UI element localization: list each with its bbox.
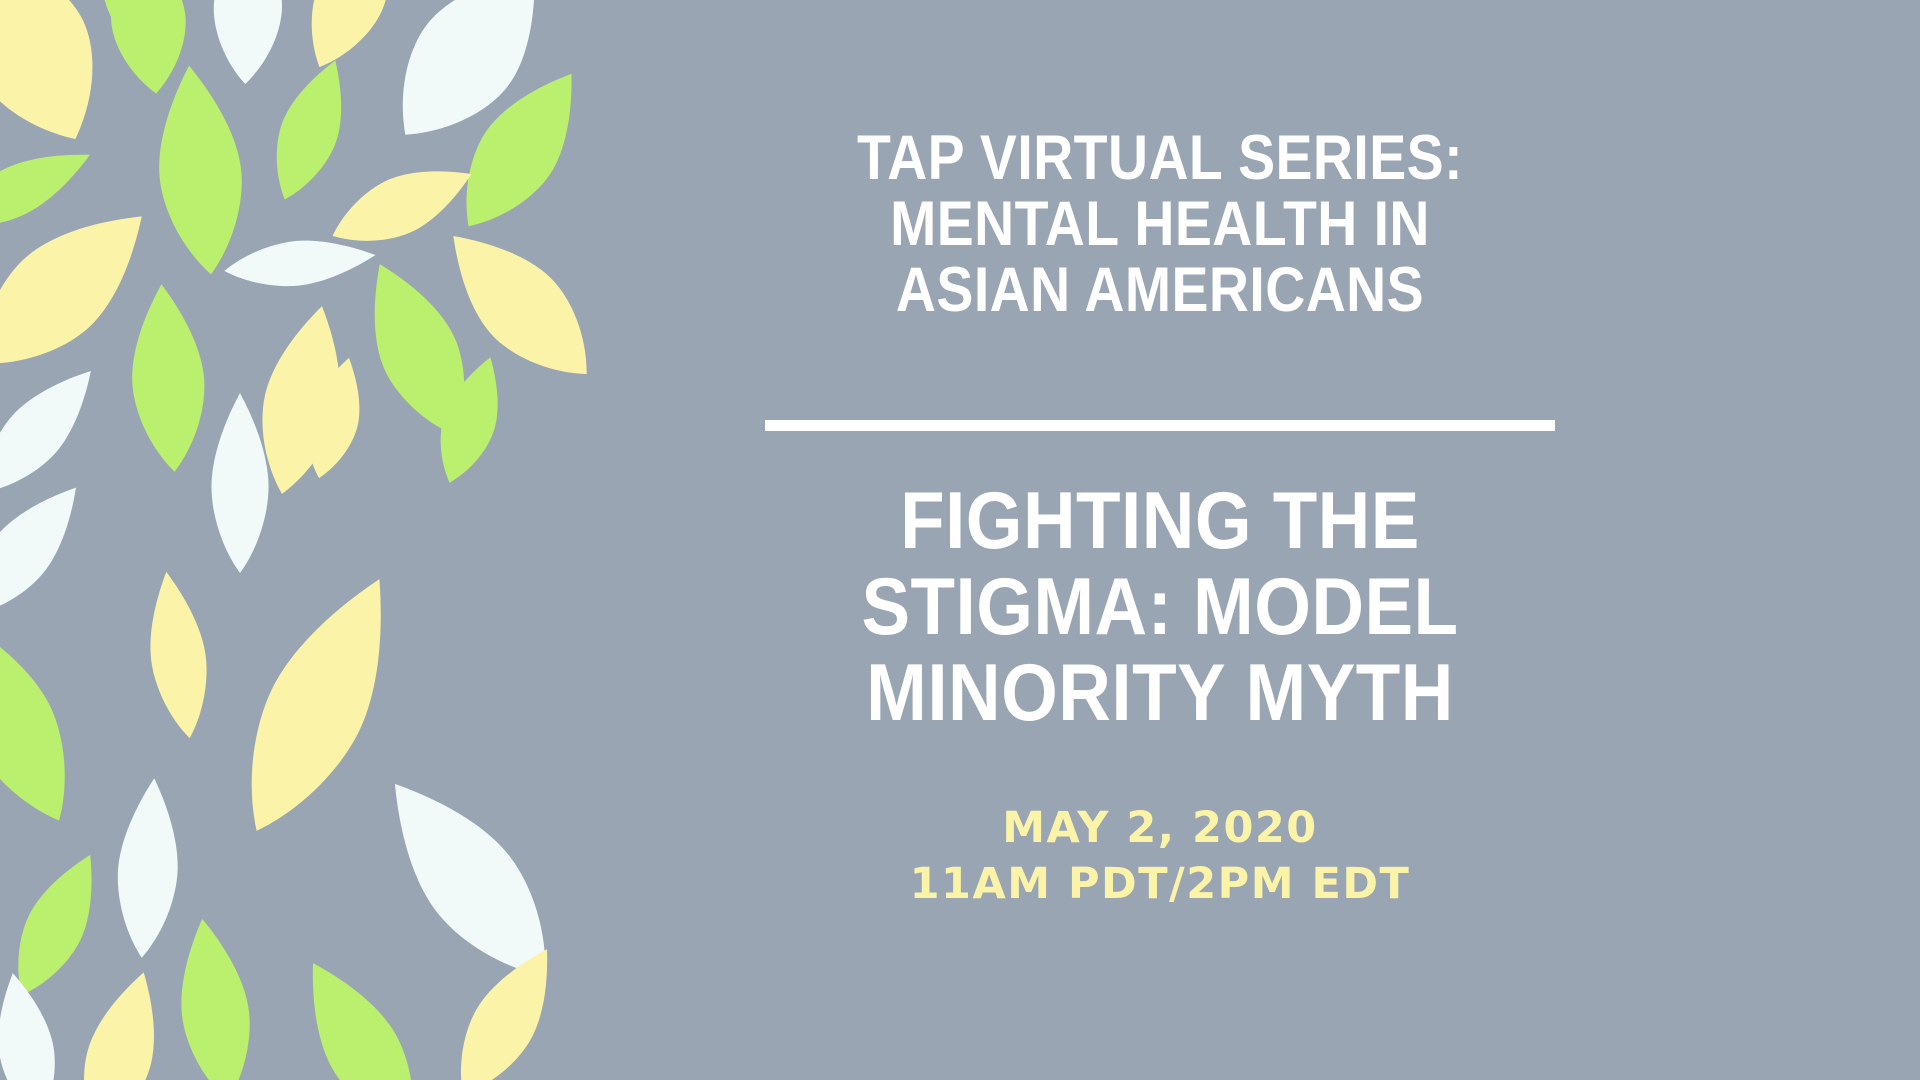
leaf-green	[282, 945, 442, 1080]
leaf-green	[345, 248, 492, 451]
leaf-white	[365, 0, 574, 166]
leaf-green	[0, 601, 97, 839]
leaf-green	[169, 914, 261, 1080]
leaf-white	[0, 469, 99, 636]
leaf-green	[103, 0, 193, 97]
leaf-yellow	[213, 558, 423, 852]
series-title-line-1: TAP VIRTUAL SERIES:	[667, 125, 1653, 191]
leaf-white	[211, 0, 285, 85]
leaf-yellow	[436, 934, 574, 1080]
leaf-white	[359, 756, 582, 1005]
leaf-white	[0, 968, 66, 1080]
leaf-white	[222, 233, 378, 293]
leaf-group-upper	[0, 51, 600, 279]
talk-title-line-3: MINORITY MYTH	[656, 650, 1664, 736]
leaf-yellow	[295, 352, 373, 484]
leaf-group-bottom	[0, 842, 574, 1080]
event-poster: TAP VIRTUAL SERIES: MENTAL HEALTH IN ASI…	[0, 0, 1920, 1080]
leaf-green	[0, 842, 116, 1007]
event-date: MAY 2, 2020	[600, 800, 1720, 856]
leaf-green	[96, 0, 161, 36]
leaf-green	[148, 61, 251, 278]
divider-wrapper	[600, 420, 1720, 431]
leaf-yellow	[0, 181, 173, 398]
leaf-green	[425, 349, 515, 491]
leaf-yellow	[424, 208, 600, 403]
leaf-group-center	[0, 349, 515, 635]
leaf-yellow	[321, 148, 483, 262]
event-time: 11AM PDT/2PM EDT	[600, 856, 1720, 912]
leaf-pattern-decoration	[0, 0, 600, 1080]
leaf-yellow	[139, 568, 216, 742]
leaf-white	[112, 776, 184, 960]
leaf-green	[437, 52, 600, 248]
leaf-yellow	[0, 0, 128, 165]
series-title-line-2: MENTAL HEALTH IN	[667, 191, 1653, 257]
series-title: TAP VIRTUAL SERIES: MENTAL HEALTH IN ASI…	[600, 125, 1720, 323]
leaf-group-lower	[0, 558, 581, 1004]
leaf-white	[0, 352, 112, 512]
leaf-yellow	[246, 298, 359, 501]
poster-text-column: TAP VIRTUAL SERIES: MENTAL HEALTH IN ASI…	[600, 0, 1920, 1080]
series-title-line-3: ASIAN AMERICANS	[667, 257, 1653, 323]
leaf-group-top	[0, 0, 575, 166]
talk-title-line-1: FIGHTING THE	[656, 478, 1664, 564]
talk-title-line-2: STIGMA: MODEL	[656, 564, 1664, 650]
leaf-green	[0, 133, 101, 248]
event-meta: MAY 2, 2020 11AM PDT/2PM EDT	[600, 800, 1720, 912]
horizontal-divider	[765, 420, 1555, 431]
leaf-white	[211, 393, 268, 573]
talk-title: FIGHTING THE STIGMA: MODEL MINORITY MYTH	[600, 478, 1720, 736]
leaf-group-mid	[0, 181, 600, 501]
leaf-green	[258, 51, 362, 210]
leaf-yellow	[288, 0, 415, 81]
leaf-yellow	[65, 963, 174, 1080]
leaf-green	[126, 282, 211, 475]
